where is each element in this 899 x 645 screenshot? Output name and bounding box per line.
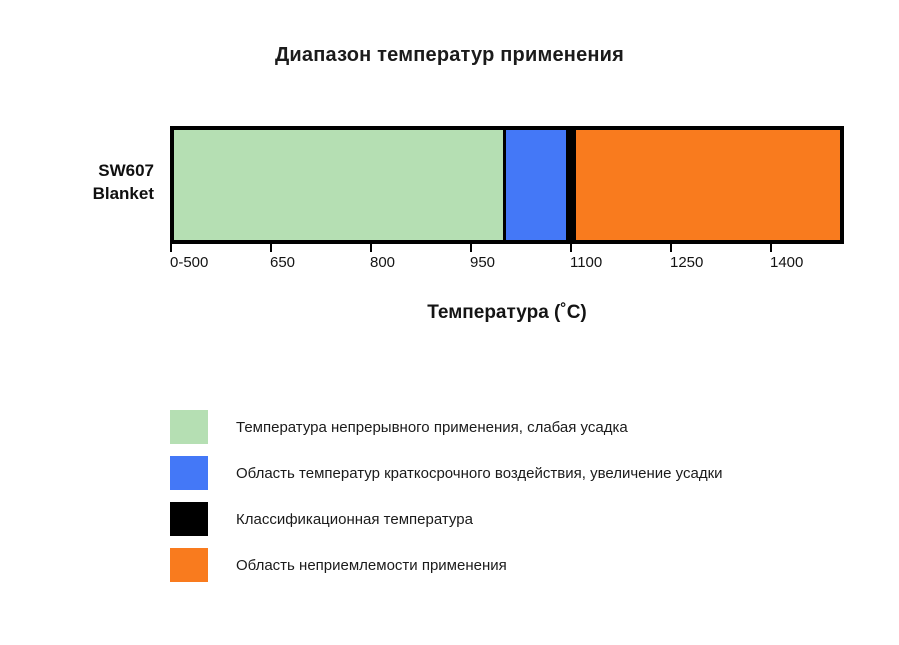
x-tick-label: 800 xyxy=(370,254,395,271)
legend-item: Область неприемлемости применения xyxy=(170,542,870,588)
legend-label: Область неприемлемости применения xyxy=(236,557,507,574)
x-axis-title: Температура (˚С) xyxy=(170,302,844,324)
legend-item: Температура непрерывного применения, сла… xyxy=(170,404,870,450)
x-tick-mark xyxy=(270,244,272,252)
legend-swatch-1 xyxy=(170,456,208,490)
x-tick-label: 650 xyxy=(270,254,295,271)
temperature-range-chart: Диапазон температур применения SW607 Bla… xyxy=(0,0,899,645)
legend-item: Классификационная температура xyxy=(170,496,870,542)
x-tick-mark xyxy=(470,244,472,252)
x-tick-mark xyxy=(170,244,172,252)
x-tick-label: 1250 xyxy=(670,254,703,271)
stacked-bar xyxy=(174,130,840,240)
category-label-line-1: SW607 xyxy=(18,160,154,183)
bar-segment-classification xyxy=(566,130,576,240)
x-tick-mark xyxy=(770,244,772,252)
chart-title: Диапазон температур применения xyxy=(0,44,899,67)
bar-segment-continuous-use xyxy=(174,130,503,240)
x-tick-mark xyxy=(370,244,372,252)
x-tick-mark xyxy=(670,244,672,252)
x-tick-label: 0-500 xyxy=(170,254,208,271)
bar-segment-short-term xyxy=(503,130,566,240)
legend-item: Область температур краткосрочного воздей… xyxy=(170,450,870,496)
legend-swatch-3 xyxy=(170,548,208,582)
x-tick-label: 1100 xyxy=(570,254,602,271)
legend-label: Область температур краткосрочного воздей… xyxy=(236,465,723,482)
category-axis-label: SW607 Blanket xyxy=(18,160,154,206)
legend-label: Классификационная температура xyxy=(236,511,473,528)
plot-frame xyxy=(170,126,844,244)
legend-swatch-2 xyxy=(170,502,208,536)
segment-divider-green-blue xyxy=(503,130,506,240)
x-tick-mark xyxy=(570,244,572,252)
x-tick-label: 1400 xyxy=(770,254,803,271)
chart-legend: Температура непрерывного применения, сла… xyxy=(170,404,870,588)
x-tick-label: 950 xyxy=(470,254,495,271)
legend-label: Температура непрерывного применения, сла… xyxy=(236,419,628,436)
bar-segment-unacceptable xyxy=(576,130,840,240)
category-label-line-2: Blanket xyxy=(18,183,154,206)
x-axis: 0-500650800950110012501400 xyxy=(170,244,844,284)
legend-swatch-0 xyxy=(170,410,208,444)
